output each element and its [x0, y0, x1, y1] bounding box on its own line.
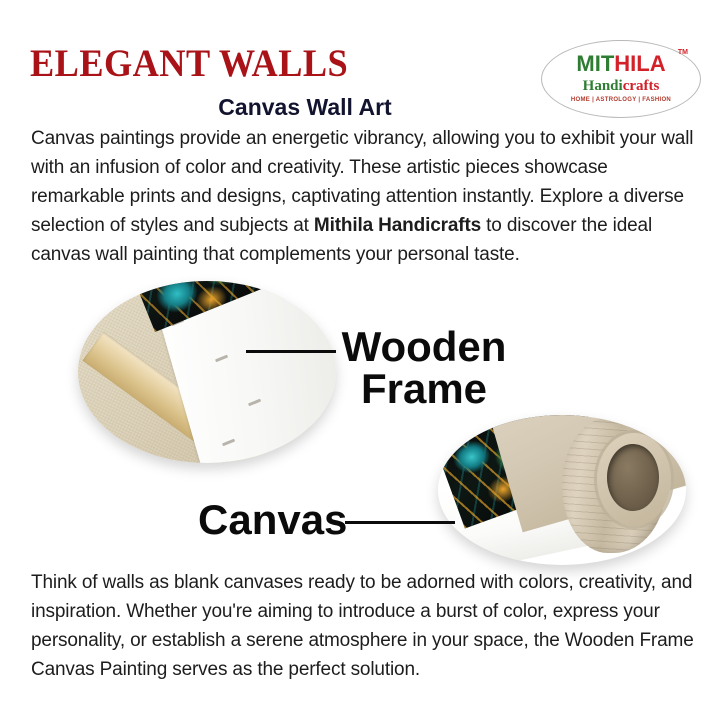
trademark-icon: TM [678, 49, 688, 56]
callout-canvas: Canvas [198, 499, 347, 541]
logo-wordmark: MITHILA [542, 53, 700, 75]
brand-logo: MITHILA TM Handicrafts HOME | ASTROLOGY … [541, 40, 701, 118]
logo-word-part2: T [601, 51, 614, 76]
logo-subwordmark: Handicrafts [542, 79, 700, 94]
poster-root: ELEGANT WALLS Canvas Wall Art MITHILA TM… [0, 0, 720, 720]
canvas-roll-photo [438, 415, 686, 565]
logo-sub-part1: Handi [583, 78, 623, 94]
leader-line-wooden-frame [246, 350, 336, 353]
page-title: ELEGANT WALLS [30, 44, 348, 83]
intro-paragraph: Canvas paintings provide an energetic vi… [31, 124, 695, 269]
logo-tagline: HOME | ASTROLOGY | FASHION [542, 97, 700, 103]
logo-sub-part2: crafts [623, 78, 660, 94]
wooden-frame-photo [78, 281, 336, 463]
closing-paragraph: Think of walls as blank canvases ready t… [31, 568, 701, 684]
roll-core-hole [607, 444, 659, 512]
callout-wooden-frame: Wooden Frame [333, 326, 515, 409]
brand-mention: Mithila Handicrafts [314, 215, 481, 236]
logo-word-part3: HILA [614, 51, 665, 76]
leader-line-canvas [345, 521, 455, 524]
logo-word-part1: MI [576, 51, 600, 76]
